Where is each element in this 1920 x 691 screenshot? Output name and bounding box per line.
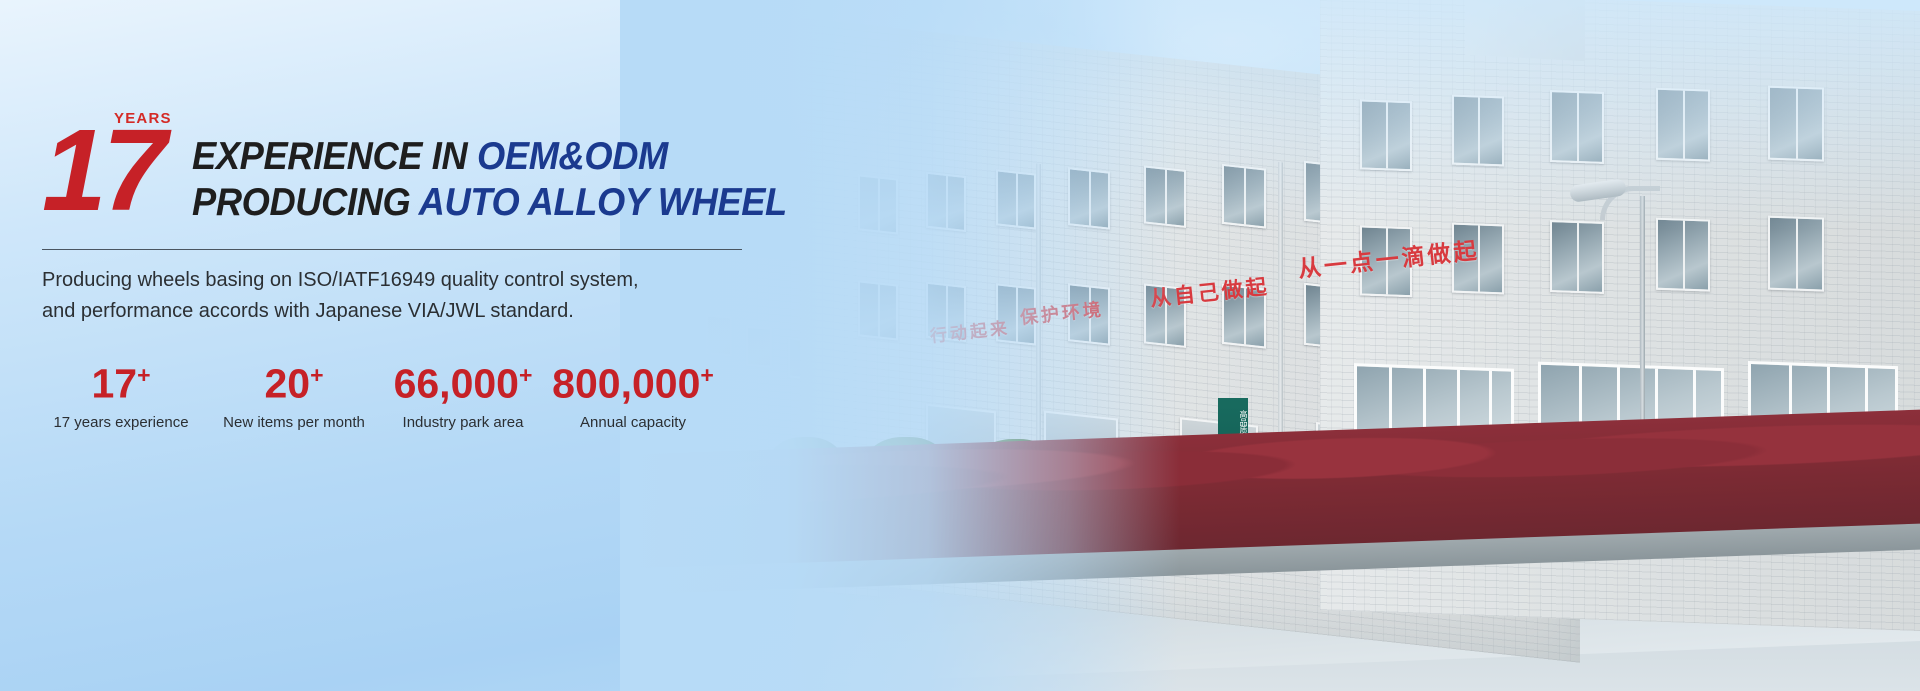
factory-photo: 行动起来 保护环境 从自己做起 从一点一滴做起 高品质成就上海品 事事爱岗敬业 … — [620, 0, 1920, 691]
stat-item: 800,000+ Annual capacity — [547, 352, 719, 433]
stat-value: 20+ — [208, 352, 380, 407]
divider — [42, 249, 742, 250]
headline-row: YEARS 17 EXPERIENCE IN OEM&ODM PRODUCING… — [42, 118, 802, 238]
stat-item: 66,000+ Industry park area — [388, 352, 538, 433]
description: Producing wheels basing on ISO/IATF16949… — [42, 265, 762, 327]
stat-suffix: + — [519, 362, 532, 388]
headline-line-2-dark: PRODUCING — [192, 181, 419, 224]
headline-line-2: PRODUCING AUTO ALLOY WHEEL — [192, 180, 787, 226]
stat-suffix: + — [310, 362, 323, 388]
headline-line-2-blue: AUTO ALLOY WHEEL — [419, 181, 787, 224]
company-intro-banner: 行动起来 保护环境 从自己做起 从一点一滴做起 高品质成就上海品 事事爱岗敬业 … — [0, 0, 1920, 691]
headline-line-1-dark: EXPERIENCE IN — [192, 135, 477, 178]
description-line-1: Producing wheels basing on ISO/IATF16949… — [42, 265, 762, 296]
stat-value: 66,000+ — [388, 352, 538, 407]
headline-line-1-blue: OEM&ODM — [477, 135, 668, 178]
stat-label: Annual capacity — [547, 413, 719, 433]
stat-item: 20+ New items per month — [208, 352, 380, 433]
stat-label: 17 years experience — [42, 413, 200, 433]
headline-line-1: EXPERIENCE IN OEM&ODM — [192, 134, 787, 180]
stat-value: 17+ — [42, 352, 200, 407]
rooftop-structure — [1465, 0, 1585, 61]
stat-value: 800,000+ — [547, 352, 719, 407]
stat-suffix: + — [700, 362, 713, 388]
years-number: 17 — [42, 118, 163, 222]
stat-label: Industry park area — [388, 413, 538, 433]
headline: EXPERIENCE IN OEM&ODM PRODUCING AUTO ALL… — [192, 134, 787, 226]
stat-item: 17+ 17 years experience — [42, 352, 200, 433]
stat-label: New items per month — [208, 413, 380, 433]
description-line-2: and performance accords with Japanese VI… — [42, 296, 762, 327]
stat-suffix: + — [137, 362, 150, 388]
banner-content: YEARS 17 EXPERIENCE IN OEM&ODM PRODUCING… — [0, 0, 800, 691]
